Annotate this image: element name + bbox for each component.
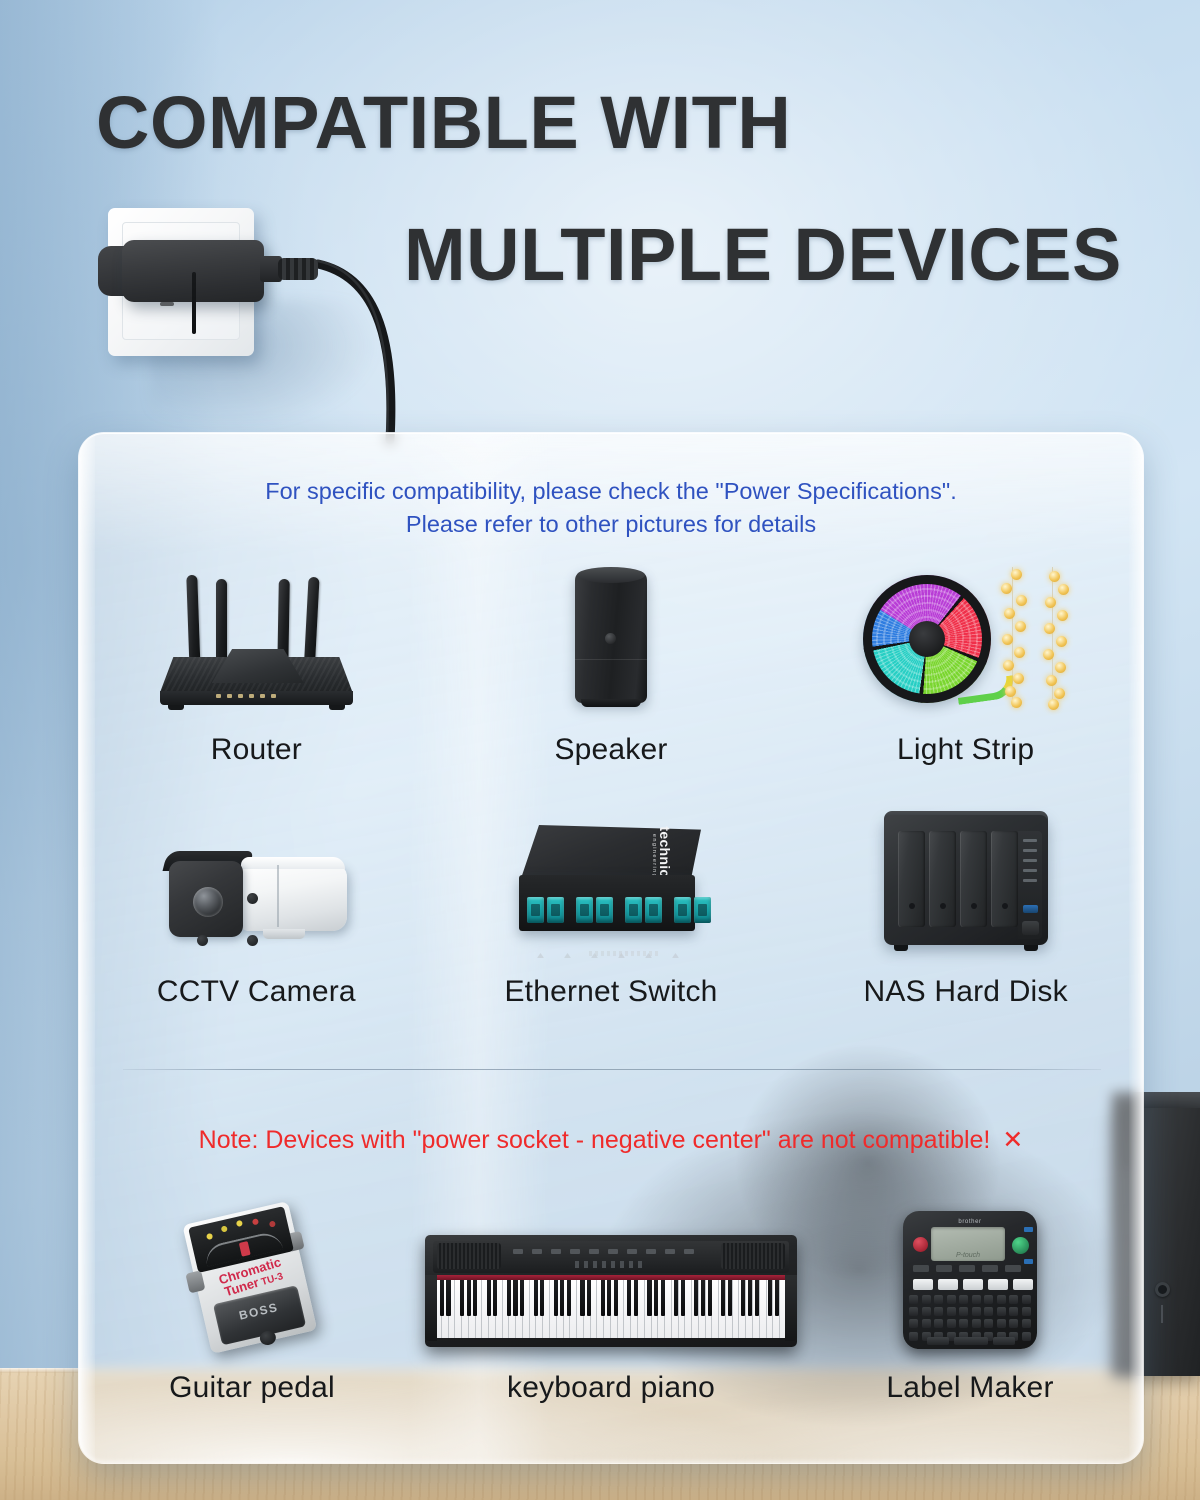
piano-speaker-grille-icon	[721, 1243, 785, 1269]
power-adapter-band	[192, 272, 196, 334]
compatibility-note: For specific compatibility, please check…	[79, 475, 1143, 541]
device-label-speaker: Speaker	[554, 733, 667, 767]
switch-brand-subtitle: engineering	[651, 834, 657, 878]
label-maker-icon: brother P-touch	[899, 1207, 1041, 1353]
label-maker-print-button-icon	[1012, 1237, 1029, 1254]
power-adapter-body	[122, 240, 264, 302]
device-cell-router: Router	[79, 551, 434, 767]
device-cell-cctv-camera: CCTV Camera	[79, 801, 434, 1009]
guitar-pedal-icon: Chromatic Tuner TU-3 BOSS	[167, 1189, 337, 1367]
device-label-keyboard-piano: keyboard piano	[507, 1371, 715, 1405]
nas-power-button-icon	[1022, 921, 1039, 935]
cross-mark-icon: ✕	[1002, 1126, 1023, 1154]
label-maker-lcd-screen: P-touch	[931, 1227, 1005, 1261]
device-cell-keyboard-piano: keyboard piano	[425, 1193, 797, 1405]
keyboard-piano-thumbnail	[425, 1193, 797, 1353]
router-icon	[154, 561, 359, 711]
ethernet-port-icon	[527, 897, 544, 923]
headline-line-1: COMPATIBLE WITH	[96, 80, 791, 165]
router-foot	[168, 705, 184, 710]
nas-drive-tray	[991, 831, 1018, 927]
nas-drive-tray	[960, 831, 987, 927]
speaker-seam	[575, 659, 647, 660]
label-maker-brand: brother	[899, 1219, 1041, 1225]
fairy-lights-wire	[1052, 567, 1054, 707]
speaker-base	[581, 699, 641, 707]
speaker-top-cap	[577, 567, 645, 583]
label-maker-function-row	[913, 1265, 1021, 1272]
device-row-2: CCTV Camera technica engineering	[79, 801, 1143, 1009]
piano-right-end-cap	[785, 1275, 797, 1341]
nas-status-leds-icon	[1023, 839, 1037, 882]
cctv-camera-icon	[151, 841, 361, 951]
fairy-lights-strand-icon	[1037, 567, 1071, 707]
router-led-indicators-icon	[216, 694, 276, 698]
label-maker-white-keys	[913, 1279, 1033, 1290]
ethernet-port-icon	[674, 897, 691, 923]
light-strip-icon	[861, 561, 1071, 711]
ethernet-port-icon	[694, 897, 711, 923]
device-cell-speaker: Speaker	[434, 551, 789, 767]
guitar-pedal-thumbnail: Chromatic Tuner TU-3 BOSS	[182, 1193, 322, 1353]
cctv-ir-led-icon	[247, 935, 258, 946]
compatibility-note-line-1: For specific compatibility, please check…	[79, 475, 1143, 508]
piano-left-end-cap	[425, 1275, 437, 1341]
light-strip-thumbnail	[861, 551, 1071, 711]
device-label-router: Router	[211, 733, 302, 767]
nas-usb-port-icon	[1023, 905, 1038, 913]
pedal-brand-logo: BOSS	[215, 1295, 302, 1328]
frosted-glass-panel: For specific compatibility, please check…	[78, 432, 1144, 1464]
label-maker-thumbnail: brother P-touch	[899, 1193, 1041, 1353]
label-maker-side-button-icon	[1024, 1259, 1033, 1264]
ethernet-port-icon	[625, 897, 642, 923]
piano-speaker-grille-icon	[437, 1243, 501, 1269]
speaker-driver-icon	[605, 633, 616, 644]
router-thumbnail	[154, 551, 359, 711]
nas-drive-bays	[898, 831, 1018, 927]
nas-thumbnail	[878, 801, 1054, 951]
device-label-light-strip: Light Strip	[897, 733, 1034, 767]
cctv-camera-thumbnail	[151, 801, 361, 951]
ethernet-switch-port-labels	[589, 951, 659, 956]
device-row-3: Chromatic Tuner TU-3 BOSS Guitar pedal	[79, 1193, 1143, 1405]
nas-hard-disk-icon	[878, 809, 1054, 951]
nas-foot	[894, 945, 908, 951]
speaker-thumbnail	[575, 551, 647, 711]
ethernet-port-icon	[547, 897, 564, 923]
section-divider	[123, 1069, 1101, 1070]
background-appliance-knob-icon	[1155, 1282, 1170, 1297]
ethernet-port-icon	[576, 897, 593, 923]
device-cell-ethernet-switch: technica engineering	[434, 801, 789, 1009]
cable-strain-relief	[278, 258, 318, 280]
compatibility-note-line-2: Please refer to other pictures for detai…	[79, 508, 1143, 541]
label-maker-screen-logo: P-touch	[931, 1252, 1005, 1259]
fairy-lights-strand-icon	[997, 567, 1031, 707]
headline-line-2: MULTIPLE DEVICES	[404, 212, 1122, 297]
device-cell-guitar-pedal: Chromatic Tuner TU-3 BOSS Guitar pedal	[79, 1193, 425, 1405]
speaker-icon	[575, 563, 647, 711]
router-foot	[329, 705, 345, 710]
cctv-mount-bracket	[263, 929, 305, 939]
label-maker-space-row	[927, 1337, 1015, 1345]
device-cell-nas-hard-disk: NAS Hard Disk	[788, 801, 1143, 1009]
piano-display-strip	[575, 1261, 645, 1268]
label-maker-side-button-icon	[1024, 1227, 1033, 1232]
piano-black-keys	[435, 1280, 787, 1316]
cctv-ir-led-icon	[197, 935, 208, 946]
device-label-label-maker: Label Maker	[886, 1371, 1053, 1405]
nas-drive-tray	[929, 831, 956, 927]
keyboard-piano-icon	[425, 1235, 797, 1353]
device-label-ethernet-switch: Ethernet Switch	[504, 975, 717, 1009]
ethernet-switch-icon: technica engineering	[511, 811, 711, 951]
label-maker-power-button-icon	[913, 1237, 928, 1252]
cctv-barrel-top	[241, 857, 345, 869]
device-cell-label-maker: brother P-touch	[797, 1193, 1143, 1405]
ethernet-switch-ports	[527, 897, 711, 923]
led-strip-reel-hub	[909, 621, 945, 657]
device-label-guitar-pedal: Guitar pedal	[169, 1371, 335, 1405]
incompatibility-note-text: Note: Devices with "power socket - negat…	[199, 1126, 991, 1154]
device-label-cctv-camera: CCTV Camera	[157, 975, 356, 1009]
ethernet-switch-thumbnail: technica engineering	[511, 801, 711, 951]
ethernet-port-icon	[645, 897, 662, 923]
background-appliance-slot	[1161, 1305, 1163, 1323]
nas-foot	[1024, 945, 1038, 951]
device-row-1: Router Speaker	[79, 551, 1143, 767]
piano-control-buttons	[513, 1249, 694, 1254]
cctv-barrel-seam	[277, 865, 279, 927]
incompatibility-note: Note: Devices with "power socket - negat…	[79, 1125, 1143, 1155]
power-adapter-led-icon	[160, 302, 174, 306]
device-cell-light-strip: Light Strip	[788, 551, 1143, 767]
nas-drive-tray	[898, 831, 925, 927]
ethernet-port-icon	[596, 897, 613, 923]
device-label-nas-hard-disk: NAS Hard Disk	[864, 975, 1068, 1009]
